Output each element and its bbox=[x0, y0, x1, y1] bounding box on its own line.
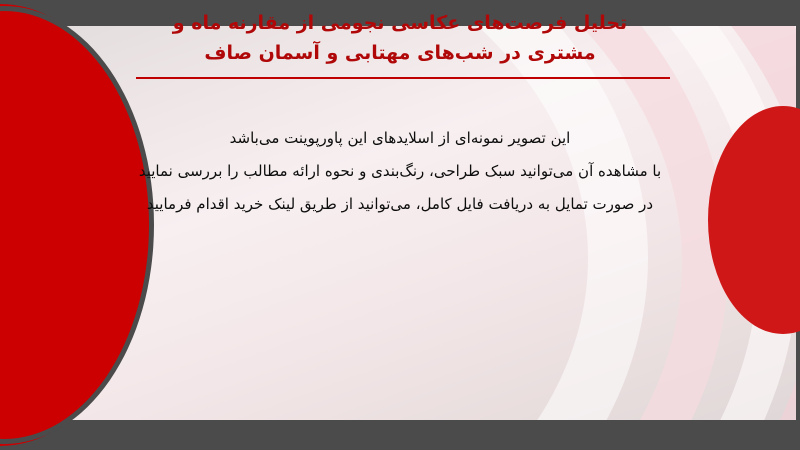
presentation-slide: تحلیل فرصت‌های عکاسی نجومی از مقارنه ماه… bbox=[0, 0, 800, 450]
slide-body-line-2: با مشاهده آن می‌توانید سبک طراحی، رنگ‌بن… bbox=[0, 155, 800, 188]
slide-title: تحلیل فرصت‌های عکاسی نجومی از مقارنه ماه… bbox=[0, 8, 800, 68]
title-underline-rule bbox=[136, 77, 670, 79]
slide-title-line-1: تحلیل فرصت‌های عکاسی نجومی از مقارنه ماه… bbox=[0, 8, 800, 38]
slide-body-line-3: در صورت تمایل به دریافت فایل کامل، می‌تو… bbox=[0, 188, 800, 221]
slide-body-text: این تصویر نمونه‌ای از اسلایدهای این پاور… bbox=[0, 122, 800, 221]
slide-body-line-1: این تصویر نمونه‌ای از اسلایدهای این پاور… bbox=[0, 122, 800, 155]
slide-title-line-2: مشتری در شب‌های مهتابی و آسمان صاف bbox=[0, 38, 800, 68]
slide-frame-bottom bbox=[0, 420, 800, 450]
